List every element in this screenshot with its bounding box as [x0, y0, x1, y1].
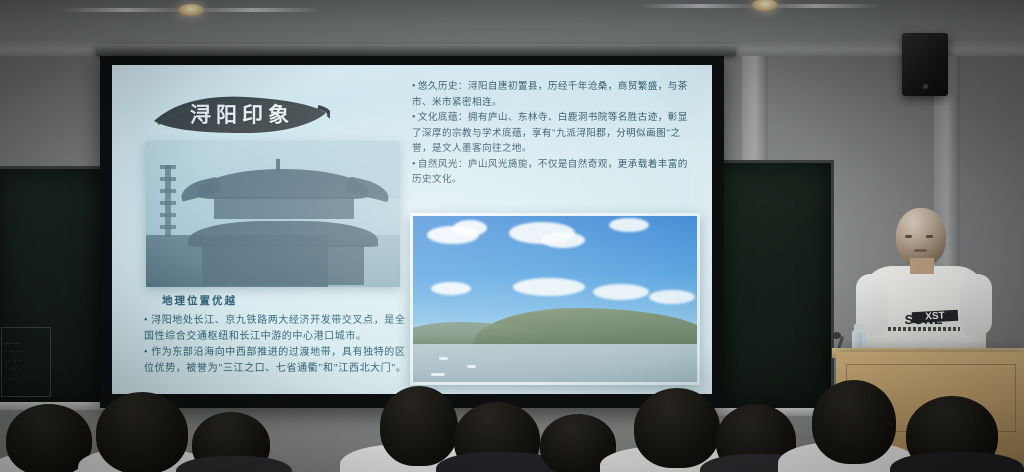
projection-screen: 浔阳印象	[100, 56, 724, 408]
shirt-graphic: SONE XST	[882, 312, 966, 338]
slide-lower-text-block: 地理位置优越 浔阳地处长江、京九铁路两大经济开发带交叉点，是全 国性综合交通枢纽…	[144, 293, 444, 377]
microphone-icon	[832, 332, 841, 339]
student-head	[96, 392, 188, 472]
ceiling-fan-icon	[60, 6, 320, 14]
slide-title: 浔阳印象	[162, 99, 322, 129]
projector-screen-roller	[96, 44, 736, 56]
eye	[926, 235, 933, 238]
bullet-line: 市、米市紧密相连。	[412, 95, 700, 111]
shirt-subtext	[888, 327, 960, 331]
slide-bullet-list: 悠久历史：浔阳自唐初置县，历经千年沧桑，商贸繁盛，与茶 市、米市紧密相连。 文化…	[412, 79, 700, 188]
bullet-line: 悠久历史：浔阳自唐初置县，历经千年沧桑，商贸繁盛，与茶	[412, 79, 700, 95]
chalk-writing: ——··· ···· ··· ····· ·	[5, 339, 24, 384]
river	[413, 344, 697, 382]
student-head	[812, 380, 896, 464]
lower-line: 作为东部沿海向中西部推进的过渡地带，具有独特的区	[144, 345, 444, 361]
lower-heading: 地理位置优越	[144, 293, 444, 308]
student-shoulders	[890, 452, 1024, 472]
mouth	[914, 249, 927, 252]
pavilion-photo	[146, 141, 400, 287]
chalkboard-left: ——··· ···· ··· ····· ·	[0, 166, 112, 408]
ceiling-fan-icon	[640, 2, 880, 10]
student-head	[380, 386, 458, 466]
lower-line: 位优势，被誉为"三江之口、七省通衢"和"江西北大门"。	[144, 361, 444, 377]
presenter-neck	[910, 258, 934, 274]
slide-title-brushstroke: 浔阳印象	[150, 91, 330, 137]
cloud	[513, 278, 585, 296]
classroom-scene: ——··· ···· ··· ····· · 浔阳印象	[0, 0, 1024, 472]
cloud	[541, 232, 585, 248]
presentation-slide: 浔阳印象	[112, 65, 712, 394]
wall-speaker-icon	[902, 33, 948, 96]
bullet-line: 文化底蕴：拥有庐山、东林寺、白鹿洞书院等名胜古迹，彰显	[412, 110, 700, 126]
cloud	[453, 220, 487, 236]
bullet-line: 了深厚的宗教与学术底蕴，享有"九派浔阳郡，分明似画图"之	[412, 126, 700, 142]
lower-line: 国性综合交通枢纽和长江中游的中心港口城市。	[144, 329, 444, 345]
presenter: SONE XST	[858, 208, 990, 370]
cloud	[593, 284, 649, 300]
cloud	[649, 290, 695, 304]
eye	[905, 235, 912, 238]
bullet-line: 自然风光：庐山风光旖旎，不仅是自然奇观，更承载着丰富的	[412, 157, 700, 173]
boat	[467, 365, 476, 368]
pagoda-icon	[160, 165, 176, 239]
landscape-photo	[410, 213, 700, 385]
lower-line: 浔阳地处长江、京九铁路两大经济开发带交叉点，是全	[144, 313, 444, 329]
bullet-line: 历史文化。	[412, 172, 700, 188]
cloud	[609, 218, 649, 232]
temple-building	[180, 163, 390, 287]
bullet-line: 誉，是文人墨客向往之地。	[412, 141, 700, 157]
student-head	[634, 388, 720, 468]
